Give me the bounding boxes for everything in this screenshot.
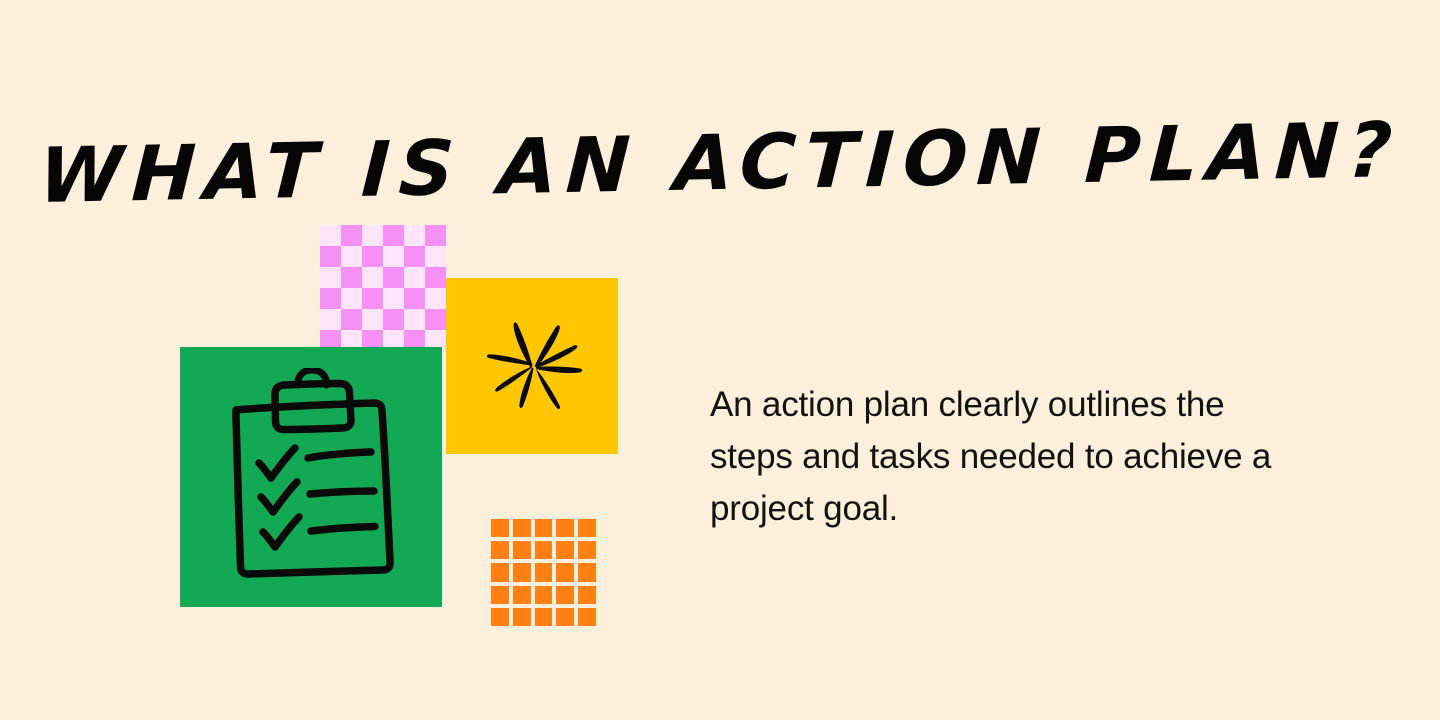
grid-cell	[535, 563, 553, 581]
grid-cell	[535, 586, 553, 604]
grid-cell	[578, 563, 596, 581]
grid-cell	[491, 563, 509, 581]
grid-cell	[556, 586, 574, 604]
grid-cell	[491, 519, 509, 537]
clipboard-checklist-icon	[222, 368, 412, 580]
grid-cell	[578, 586, 596, 604]
grid-cell	[513, 541, 531, 559]
grid-cell	[513, 563, 531, 581]
grid-cell	[578, 519, 596, 537]
grid-cell	[491, 608, 509, 626]
grid-cell	[556, 541, 574, 559]
grid-cell	[535, 541, 553, 559]
grid-cell	[535, 519, 553, 537]
grid-cell	[491, 586, 509, 604]
grid-cell	[513, 519, 531, 537]
grid-cell	[513, 608, 531, 626]
grid-cell	[556, 519, 574, 537]
grid-cell	[491, 541, 509, 559]
grid-cell	[556, 608, 574, 626]
slide-canvas: WHAT IS AN ACTION PLAN?	[0, 0, 1440, 720]
starburst-icon	[472, 304, 596, 428]
grid-cell	[535, 608, 553, 626]
grid-cell	[578, 608, 596, 626]
grid-cell	[556, 563, 574, 581]
grid-cell	[578, 541, 596, 559]
decorative-collage	[0, 0, 720, 720]
grid-cell	[513, 586, 531, 604]
orange-grid	[491, 519, 596, 626]
body-text: An action plan clearly outlines the step…	[710, 379, 1290, 535]
pink-checkerboard	[320, 225, 446, 351]
